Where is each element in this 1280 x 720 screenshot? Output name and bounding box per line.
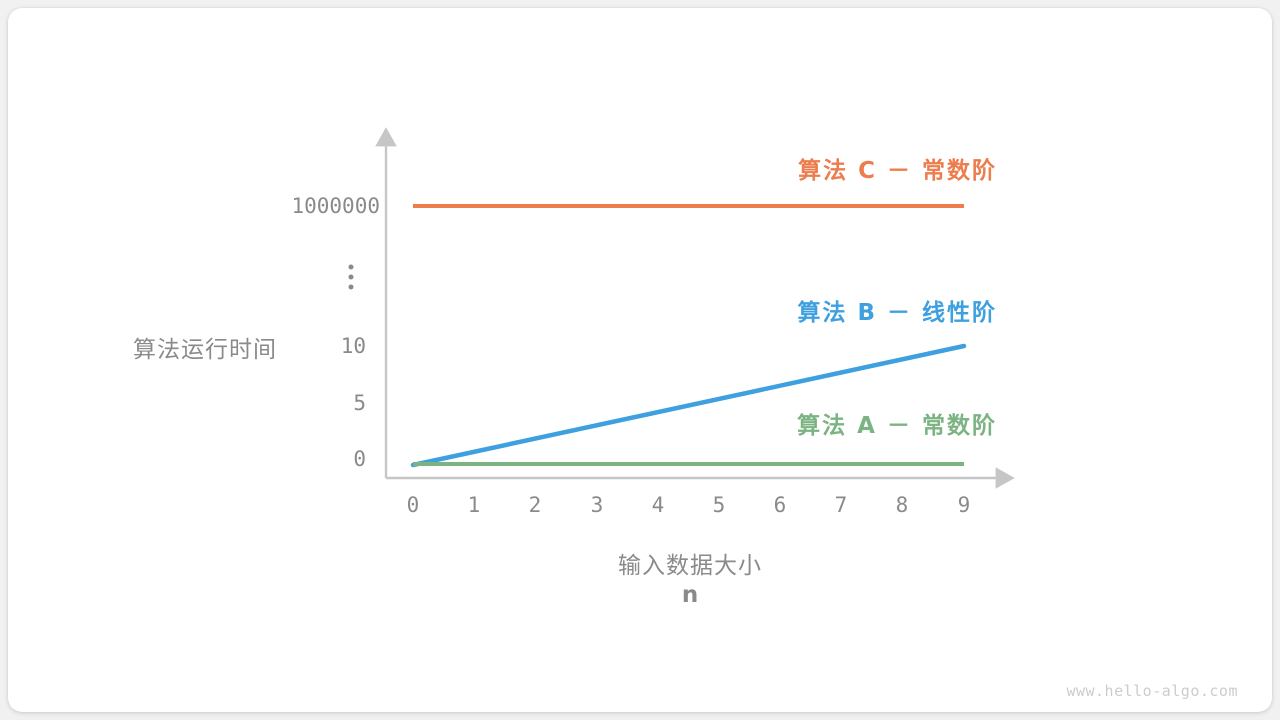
chart-canvas: 1000000 10 5 0 0 1 2 3 4 5 6 7 8 9 算法运行时… (0, 0, 1280, 720)
x-tick-label-6: 6 (774, 493, 787, 517)
x-axis-title-variable: n (682, 582, 698, 608)
x-tick-label-9: 9 (958, 493, 971, 517)
x-tick-label-5: 5 (713, 493, 726, 517)
watermark: www.hello-algo.com (1066, 682, 1238, 700)
x-axis-title: 输入数据大小 (618, 546, 762, 580)
x-tick-label-0: 0 (407, 493, 420, 517)
y-tick-label-1000000: 1000000 (160, 194, 380, 218)
x-tick-label-4: 4 (652, 493, 665, 517)
series-label-algorithm-a: 算法 A － 常数阶 (797, 406, 997, 440)
x-tick-label-8: 8 (896, 493, 909, 517)
y-axis-title: 算法运行时间 (133, 330, 277, 364)
y-axis-ellipsis-icon (349, 265, 354, 290)
y-tick-label-0: 0 (160, 447, 366, 471)
x-tick-label-7: 7 (835, 493, 848, 517)
y-tick-label-5: 5 (160, 391, 366, 415)
series-label-algorithm-b: 算法 B － 线性阶 (797, 293, 997, 327)
x-tick-label-3: 3 (591, 493, 604, 517)
x-tick-label-1: 1 (468, 493, 481, 517)
series-label-algorithm-c: 算法 C － 常数阶 (798, 151, 997, 185)
x-tick-label-2: 2 (529, 493, 542, 517)
